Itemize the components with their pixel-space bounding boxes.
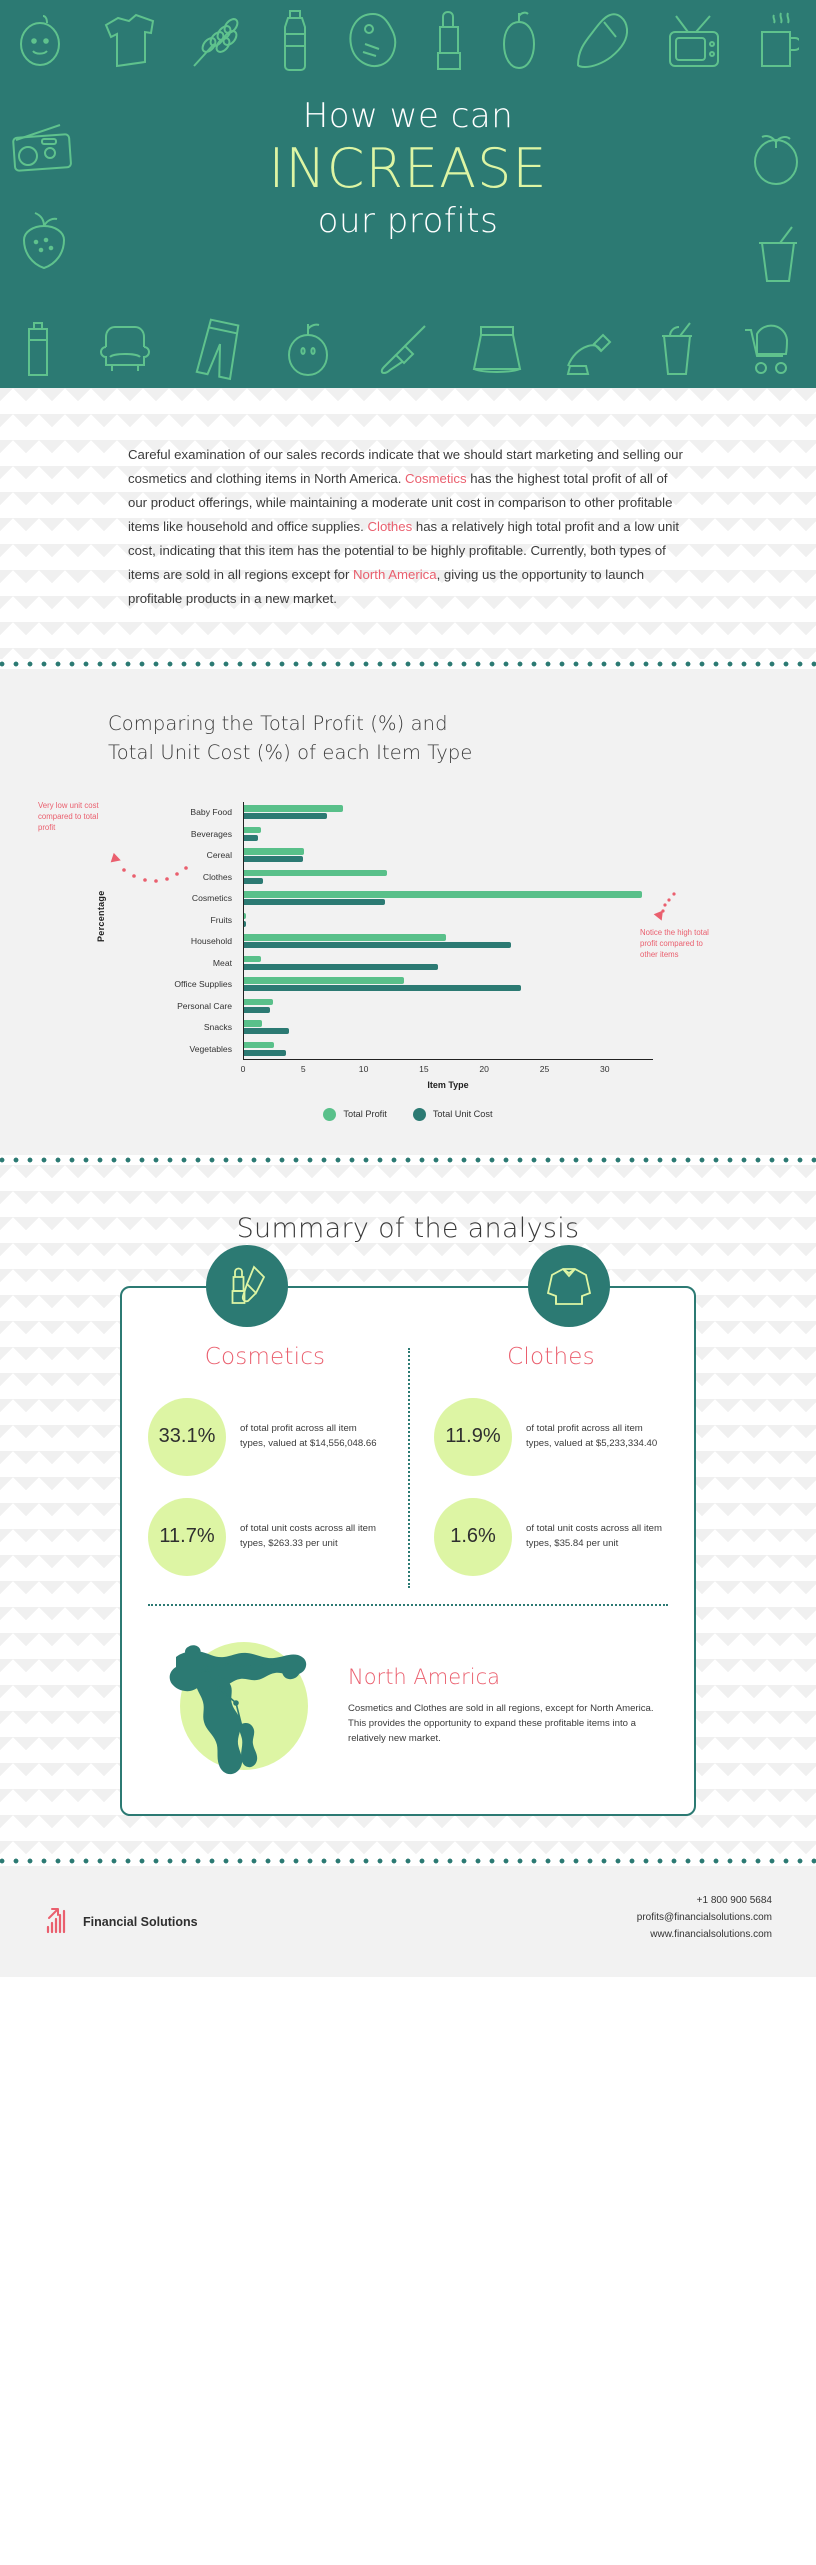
brand-block: Financial Solutions xyxy=(44,1892,198,1938)
chart-legend: Total ProfitTotal Unit Cost xyxy=(0,1108,816,1121)
chart-bar xyxy=(244,1020,262,1026)
region-title: North America xyxy=(348,1665,672,1689)
smoothie-icon xyxy=(656,320,698,378)
skirt-icon xyxy=(471,323,523,375)
apple-icon xyxy=(283,321,333,377)
chart-bar xyxy=(244,813,327,819)
tshirt-icon xyxy=(100,12,156,70)
summary-columns: Cosmetics 33.1% of total profit across a… xyxy=(122,1344,694,1598)
chart-bar xyxy=(244,827,261,833)
chart-bar-group xyxy=(244,866,653,888)
chart-x-tick: 30 xyxy=(600,1064,610,1074)
chart-bar-group xyxy=(244,1017,653,1039)
chart-bar xyxy=(244,913,246,919)
meat-icon xyxy=(345,11,399,71)
column-title-clothes: Clothes xyxy=(434,1344,668,1370)
contact-website[interactable]: www.financialsolutions.com xyxy=(637,1926,772,1943)
divider-dotted-top xyxy=(0,659,816,669)
shirt-icon xyxy=(528,1245,610,1327)
chart-x-tick: 10 xyxy=(359,1064,369,1074)
chart-x-tick: 20 xyxy=(479,1064,489,1074)
chart-bar-group xyxy=(244,888,653,910)
chart-category-label: Office Supplies xyxy=(110,974,238,996)
sneaker-icon xyxy=(574,11,632,71)
chart-bar xyxy=(244,1050,286,1056)
chart-x-ticks: 051015202530 xyxy=(243,1064,653,1078)
legend-label: Total Unit Cost xyxy=(433,1109,493,1119)
region-body: Cosmetics and Clothes are sold in all re… xyxy=(348,1701,672,1746)
chart-bar xyxy=(244,1042,274,1048)
chart-category-label: Cosmetics xyxy=(110,888,238,910)
chart-bar xyxy=(244,848,304,854)
baby-icon xyxy=(17,13,67,69)
legend-color-swatch xyxy=(413,1108,426,1121)
stat-value-bubble: 11.9% xyxy=(434,1398,512,1476)
chart-bar-group xyxy=(244,1038,653,1060)
divider-dotted-bottom xyxy=(0,1155,816,1165)
stat-cosmetics-unit-cost: 11.7% of total unit costs across all ite… xyxy=(148,1498,382,1576)
legend-color-swatch xyxy=(323,1108,336,1121)
chart-bar-group xyxy=(244,909,653,931)
legend-item[interactable]: Total Profit xyxy=(323,1108,386,1121)
stat-clothes-unit-cost: 1.6% of total unit costs across all item… xyxy=(434,1498,668,1576)
region-divider xyxy=(148,1604,668,1606)
header-line-1: How we can xyxy=(0,95,816,138)
chart-x-axis-label: Item Type xyxy=(243,1080,653,1090)
water-bottle-icon xyxy=(278,8,312,74)
chart-bar xyxy=(244,878,263,884)
intro-highlight-north-america: North America xyxy=(353,567,437,582)
summary-column-clothes: Clothes 11.9% of total profit across all… xyxy=(408,1344,694,1598)
legend-item[interactable]: Total Unit Cost xyxy=(413,1108,493,1121)
chart-bar xyxy=(244,999,273,1005)
chart-category-labels: Baby FoodBeveragesCerealClothesCosmetics… xyxy=(110,802,238,1060)
chart-plot-area: Very low unit cost compared to total pro… xyxy=(0,794,816,1094)
chart-title: Comparing the Total Profit (%) and Total… xyxy=(108,709,708,768)
coffee-mug-icon xyxy=(755,10,799,72)
chart-category-label: Household xyxy=(110,931,238,953)
stat-value-bubble: 1.6% xyxy=(434,1498,512,1576)
footer: Financial Solutions +1 800 900 5684 prof… xyxy=(0,1866,816,1978)
intro-section: Careful examination of our sales records… xyxy=(0,388,816,659)
stat-value-bubble: 33.1% xyxy=(148,1398,226,1476)
contact-block: +1 800 900 5684 profits@financialsolutio… xyxy=(637,1892,772,1944)
stroller-icon xyxy=(739,322,795,376)
summary-card-wrap: Cosmetics 33.1% of total profit across a… xyxy=(120,1286,696,1816)
chart-bar xyxy=(244,1007,270,1013)
chart-bar xyxy=(244,835,258,841)
header-title: How we can INCREASE our profits xyxy=(0,95,816,242)
chart-bar xyxy=(244,977,404,983)
chart-category-label: Snacks xyxy=(110,1017,238,1039)
lipstick-icon xyxy=(433,9,465,73)
chart-bar xyxy=(244,985,521,991)
brand-name: Financial Solutions xyxy=(83,1915,198,1929)
summary-section: Summary of the analysis xyxy=(0,1165,816,1856)
chart-category-label: Personal Care xyxy=(110,995,238,1017)
chart-bar-group xyxy=(244,995,653,1017)
header-line-2: INCREASE xyxy=(0,138,816,200)
chart-bar xyxy=(244,805,343,811)
chart-category-label: Clothes xyxy=(110,866,238,888)
chart-x-tick: 15 xyxy=(419,1064,429,1074)
header-icon-row-bottom xyxy=(0,318,816,380)
chart-x-tick: 5 xyxy=(301,1064,306,1074)
armchair-icon xyxy=(96,323,154,375)
chart-bar xyxy=(244,1028,289,1034)
chart-category-label: Cereal xyxy=(110,845,238,867)
stat-cosmetics-profit: 33.1% of total profit across all item ty… xyxy=(148,1398,382,1476)
chart-bar xyxy=(244,956,261,962)
lotion-bottle-icon xyxy=(21,320,55,378)
intro-highlight-clothes: Clothes xyxy=(367,519,412,534)
jeans-icon xyxy=(196,318,242,380)
chart-bar-group xyxy=(244,952,653,974)
header-icon-row-top xyxy=(0,8,816,74)
stat-description: of total profit across all item types, v… xyxy=(526,1422,668,1451)
chart-title-line-2: Total Unit Cost (%) of each Item Type xyxy=(108,738,708,767)
chart-x-tick: 25 xyxy=(540,1064,550,1074)
chart-bar-group xyxy=(244,823,653,845)
hand-cream-icon xyxy=(564,322,614,376)
chart-bar xyxy=(244,921,246,927)
intro-highlight-cosmetics: Cosmetics xyxy=(405,471,467,486)
header-line-3: our profits xyxy=(0,200,816,243)
chart-bar xyxy=(244,964,438,970)
summary-title: Summary of the analysis xyxy=(0,1213,816,1244)
north-america-map-icon xyxy=(158,1631,326,1781)
contact-email[interactable]: profits@financialsolutions.com xyxy=(637,1909,772,1926)
chart-bar-group xyxy=(244,845,653,867)
chart-bar-group xyxy=(244,931,653,953)
chart-bar-group xyxy=(244,802,653,824)
chart-bar xyxy=(244,899,385,905)
summary-column-cosmetics: Cosmetics 33.1% of total profit across a… xyxy=(122,1344,408,1598)
pepper-icon xyxy=(498,10,540,72)
infographic-page: How we can INCREASE our profits Careful … xyxy=(0,0,816,1977)
chart-category-label: Vegetables xyxy=(110,1038,238,1060)
chart-category-label: Baby Food xyxy=(110,802,238,824)
wheat-icon xyxy=(190,12,244,70)
chart-bar xyxy=(244,870,387,876)
chart-category-label: Fruits xyxy=(110,909,238,931)
stat-description: of total unit costs across all item type… xyxy=(240,1522,382,1551)
divider-dotted-footer xyxy=(0,1856,816,1866)
annotation-dots-right-icon xyxy=(655,890,685,920)
chart-bar xyxy=(244,934,446,940)
summary-card: Cosmetics 33.1% of total profit across a… xyxy=(120,1286,696,1816)
chart-category-label: Beverages xyxy=(110,823,238,845)
stat-description: of total unit costs across all item type… xyxy=(526,1522,668,1551)
legend-label: Total Profit xyxy=(343,1109,386,1119)
lipstick-brush-icon xyxy=(206,1245,288,1327)
annotation-low-unit-cost: Very low unit cost compared to total pro… xyxy=(38,800,114,833)
stat-clothes-profit: 11.9% of total profit across all item ty… xyxy=(434,1398,668,1476)
makeup-brush-icon xyxy=(375,322,429,376)
stat-description: of total profit across all item types, v… xyxy=(240,1422,382,1451)
chart-category-label: Meat xyxy=(110,952,238,974)
region-section: North America Cosmetics and Clothes are … xyxy=(122,1626,694,1786)
north-america-map xyxy=(144,1626,340,1786)
chart-title-line-1: Comparing the Total Profit (%) and xyxy=(108,709,708,738)
header-banner: How we can INCREASE our profits xyxy=(0,0,816,388)
chart-bar-group xyxy=(244,974,653,996)
tv-icon xyxy=(666,12,722,70)
chart-bar xyxy=(244,942,511,948)
chart-y-axis-label: Percentage xyxy=(96,890,106,942)
chart-bars xyxy=(243,802,653,1060)
chart-bar xyxy=(244,856,303,862)
chart-x-tick: 0 xyxy=(241,1064,246,1074)
column-title-cosmetics: Cosmetics xyxy=(148,1344,382,1370)
chart-section: Comparing the Total Profit (%) and Total… xyxy=(0,669,816,1155)
chart-bar xyxy=(244,891,642,897)
contact-phone[interactable]: +1 800 900 5684 xyxy=(637,1892,772,1909)
stat-value-bubble: 11.7% xyxy=(148,1498,226,1576)
region-text: North America Cosmetics and Clothes are … xyxy=(344,1665,672,1746)
bar-chart-arrow-icon xyxy=(44,1906,72,1938)
column-divider xyxy=(408,1348,410,1588)
intro-paragraph: Careful examination of our sales records… xyxy=(128,443,688,611)
